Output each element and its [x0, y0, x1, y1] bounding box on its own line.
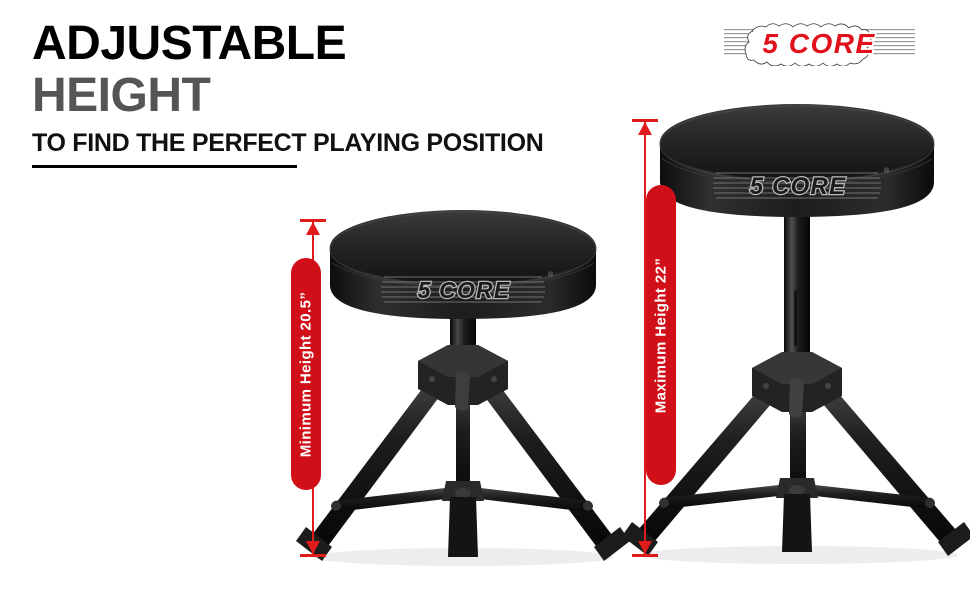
seat-brand-text: 5 CORE — [750, 173, 847, 200]
hub-clamp-lever — [455, 371, 470, 410]
measurement-label-maximum: Maximum Height 22” — [646, 185, 676, 485]
seat-top-surface — [330, 210, 596, 284]
arrow-up-icon — [638, 122, 652, 135]
brand-logo-icon: 5 CORE — [722, 20, 917, 66]
subtitle-underline-rule — [32, 165, 297, 168]
registered-mark: ® — [548, 271, 554, 279]
page-subtitle: TO FIND THE PERFECT PLAYING POSITION — [32, 128, 652, 158]
measurement-label-maximum-text: Maximum Height 22” — [653, 257, 670, 413]
measure-cap-bottom — [632, 554, 658, 557]
rubber-foot-center — [782, 494, 812, 552]
brand-logo-5core: 5 CORE — [722, 20, 917, 66]
rubber-foot-center — [448, 497, 478, 557]
page-title-primary: ADJUSTABLE — [32, 18, 652, 70]
arrow-down-icon — [306, 541, 320, 554]
page-title-secondary: HEIGHT — [32, 70, 652, 122]
arrow-down-icon — [638, 541, 652, 554]
marketing-banner: ADJUSTABLE HEIGHT TO FIND THE PERFECT PL… — [0, 0, 970, 600]
arrow-up-icon — [306, 222, 320, 235]
stool-left-illustration: 5 CORE ® — [278, 205, 648, 570]
hub-clamp-lever — [789, 378, 804, 417]
measurement-label-minimum: Minimum Height 20.5” — [291, 258, 321, 490]
seat-top-surface — [660, 104, 934, 180]
brand-logo-text: 5 CORE — [762, 28, 875, 59]
headline-block: ADJUSTABLE HEIGHT TO FIND THE PERFECT PL… — [32, 18, 652, 168]
measure-cap-bottom — [300, 554, 326, 557]
product-stool-left: 5 CORE ® — [278, 205, 648, 570]
seat-brand-text: 5 CORE — [418, 277, 511, 303]
measurement-label-minimum-text: Minimum Height 20.5” — [298, 291, 315, 457]
seat-cushion — [660, 104, 934, 217]
registered-mark: ® — [884, 167, 890, 175]
